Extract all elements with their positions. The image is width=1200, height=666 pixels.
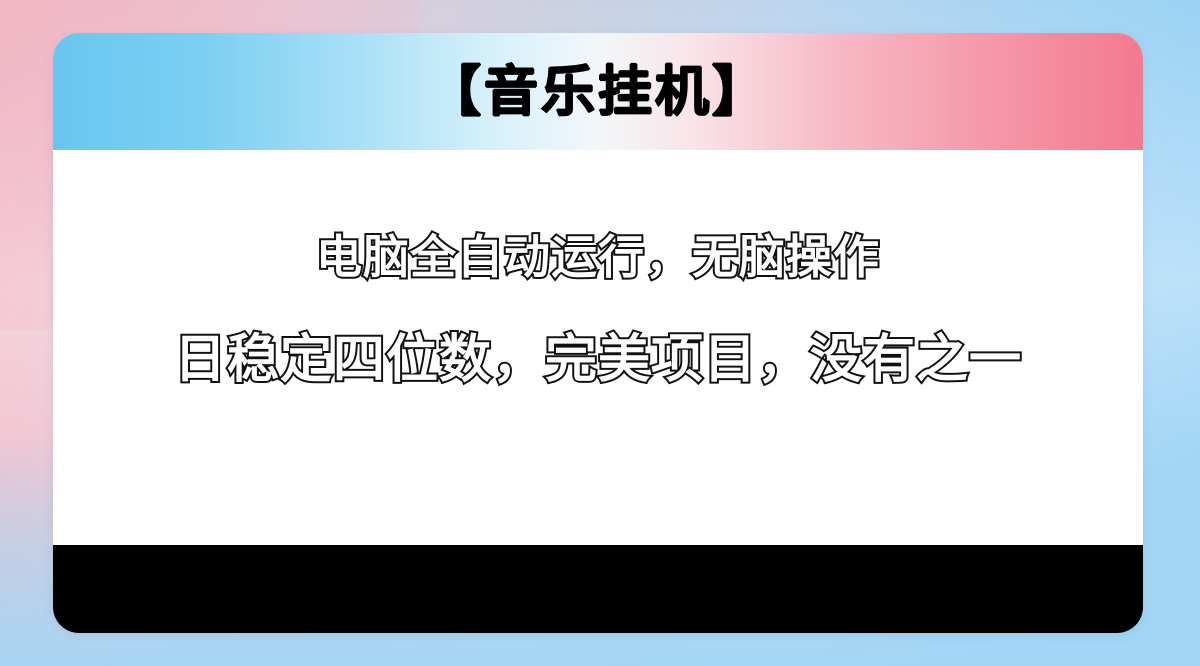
card-header-band: 【音乐挂机】 [53, 33, 1143, 150]
promo-card-page: 【音乐挂机】 电脑全自动运行，无脑操作 日稳定四位数，完美项目，没有之一 [0, 0, 1200, 666]
card-footer-band [53, 545, 1143, 633]
promo-card: 【音乐挂机】 电脑全自动运行，无脑操作 日稳定四位数，完美项目，没有之一 [53, 33, 1143, 633]
body-headline-secondary: 日稳定四位数，完美项目，没有之一 [174, 334, 1022, 386]
card-body: 电脑全自动运行，无脑操作 日稳定四位数，完美项目，没有之一 [53, 150, 1143, 545]
card-title: 【音乐挂机】 [427, 65, 769, 119]
body-headline-primary: 电脑全自动运行，无脑操作 [316, 234, 880, 280]
